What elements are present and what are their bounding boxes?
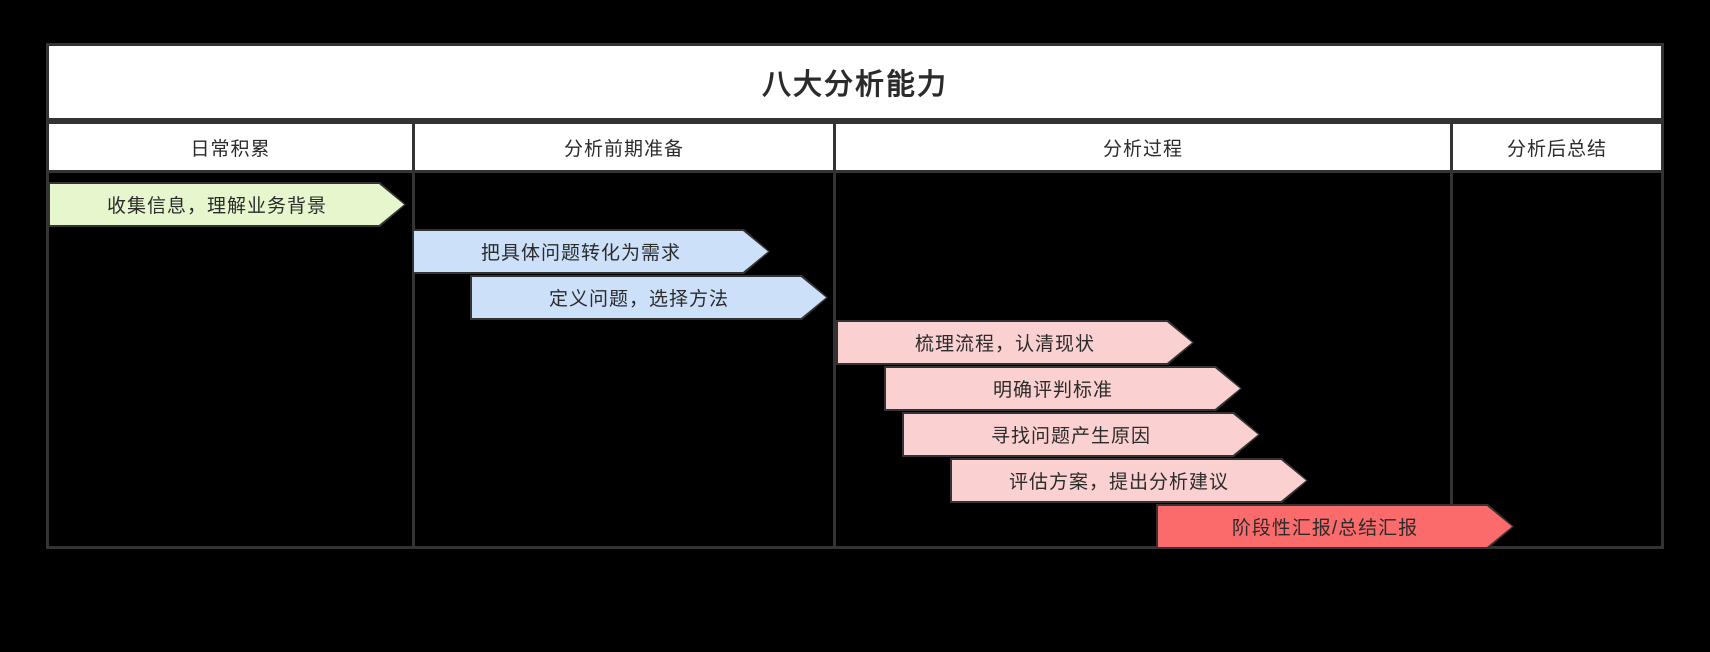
arrow-label: 评估方案，提出分析建议 [952, 460, 1306, 501]
stage-header-label: 日常积累 [190, 134, 270, 161]
chart-title-band: 八大分析能力 [46, 43, 1664, 121]
stage-header-process: 分析过程 [833, 121, 1453, 173]
process-arrow-map-process[interactable]: 梳理流程，认清现状 [836, 320, 1194, 365]
arrow-label: 阶段性汇报/总结汇报 [1158, 506, 1512, 547]
page-title: 八大分析能力 [762, 61, 948, 103]
process-arrow-define-criteria[interactable]: 明确评判标准 [884, 366, 1242, 411]
arrow-label: 寻找问题产生原因 [904, 414, 1258, 455]
process-arrow-report[interactable]: 阶段性汇报/总结汇报 [1156, 504, 1514, 549]
stage-header-label: 分析过程 [1103, 134, 1183, 161]
stage-header-row: 日常积累 分析前期准备 分析过程 分析后总结 [46, 121, 1664, 173]
arrow-label: 收集信息，理解业务背景 [50, 184, 404, 225]
stage-header-label: 分析前期准备 [564, 134, 684, 161]
process-arrow-define-problem[interactable]: 定义问题，选择方法 [470, 275, 828, 320]
arrow-label: 梳理流程，认清现状 [838, 322, 1192, 363]
arrow-label: 明确评判标准 [886, 368, 1240, 409]
stage-header-label: 分析后总结 [1507, 134, 1607, 161]
column-divider-3 [1450, 173, 1453, 549]
process-arrow-evaluate-and-advise[interactable]: 评估方案，提出分析建议 [950, 458, 1308, 503]
stage-header-summary: 分析后总结 [1450, 121, 1664, 173]
arrow-label: 把具体问题转化为需求 [414, 231, 768, 272]
diagram-canvas: 八大分析能力 日常积累 分析前期准备 分析过程 分析后总结 收集信息，理解业务背… [0, 0, 1710, 652]
stage-header-daily: 日常积累 [46, 121, 415, 173]
process-arrow-find-root-cause[interactable]: 寻找问题产生原因 [902, 412, 1260, 457]
process-arrow-convert-to-requirement[interactable]: 把具体问题转化为需求 [412, 229, 770, 274]
process-arrow-collect-info[interactable]: 收集信息，理解业务背景 [48, 182, 406, 227]
stage-header-preparation: 分析前期准备 [412, 121, 836, 173]
arrow-label: 定义问题，选择方法 [472, 277, 826, 318]
